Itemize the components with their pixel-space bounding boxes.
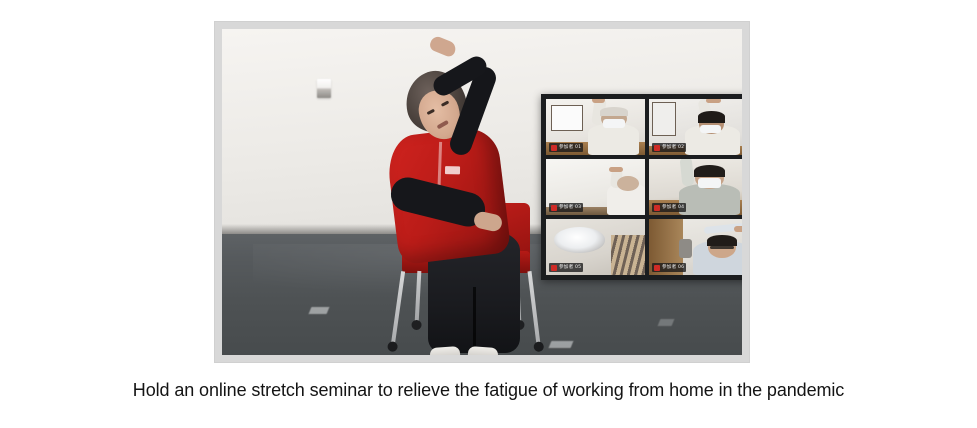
ceiling-light-icon (554, 227, 605, 253)
floor-marking (657, 319, 674, 326)
participant-tile[interactable]: 参加者 02 (649, 99, 742, 155)
chair-leg (528, 271, 541, 345)
participant-name-badge: 参加者 02 (652, 143, 686, 152)
seminar-photo: 参加者 01 (222, 29, 742, 355)
wall-picture (652, 102, 676, 135)
participant-glasses (710, 246, 734, 249)
participant-name-badge: 参加者 05 (549, 263, 583, 272)
wall-switch-icon (317, 79, 331, 98)
instructor-raised-arm (436, 39, 510, 149)
striped-curtain (611, 235, 645, 275)
participant-name: 参加者 01 (559, 143, 581, 152)
participant-name-badge: 参加者 04 (652, 203, 686, 212)
participant-body (588, 124, 639, 155)
chair-leg (415, 271, 422, 323)
participant-tile[interactable]: 参加者 01 (546, 99, 645, 155)
figure: 参加者 01 (214, 21, 750, 363)
mic-icon (654, 145, 660, 151)
instructor-shoe (430, 346, 461, 355)
instructor (382, 35, 562, 355)
participant-name: 参加者 06 (662, 263, 684, 272)
participant-hair (707, 235, 737, 246)
mic-icon (654, 205, 660, 211)
participant-mask (603, 119, 625, 127)
floor-marking (309, 307, 330, 314)
participant-mask (700, 125, 721, 133)
instructor-shoe (468, 346, 499, 355)
participant-hair (694, 165, 726, 177)
raised-hand (428, 35, 458, 59)
participant-mask (698, 178, 722, 188)
mic-icon (551, 145, 557, 151)
eye (427, 109, 435, 115)
mic-icon (551, 205, 557, 211)
wall-panel (679, 239, 692, 258)
participant-arm (679, 159, 694, 186)
participant-hair (600, 107, 628, 116)
participant-hair (698, 111, 726, 122)
participant-grid: 参加者 01 (546, 99, 742, 275)
leg-split (473, 287, 476, 353)
participant-name: 参加者 05 (559, 263, 581, 272)
wall-picture (551, 105, 583, 132)
participant-name: 参加者 02 (662, 143, 684, 152)
participant-name-badge: 参加者 03 (549, 203, 583, 212)
participant-name-badge: 参加者 01 (549, 143, 583, 152)
mic-icon (551, 265, 557, 271)
participant-name: 参加者 03 (559, 203, 581, 212)
mic-icon (654, 265, 660, 271)
jacket-logo (445, 166, 460, 174)
participant-tile[interactable]: 参加者 06 (649, 219, 742, 275)
participant-name-badge: 参加者 06 (652, 263, 686, 272)
participant-tile[interactable]: 参加者 04 (649, 159, 742, 215)
photo-frame: 参加者 01 (214, 21, 750, 363)
participant-tile[interactable]: 参加者 05 (546, 219, 645, 275)
video-call-grid[interactable]: 参加者 01 (541, 94, 742, 280)
participant-tile[interactable]: 参加者 03 (546, 159, 645, 215)
participant-hand (706, 99, 721, 103)
participant-name: 参加者 04 (662, 203, 684, 212)
participant-hand (734, 226, 742, 232)
figure-caption: Hold an online stretch seminar to reliev… (0, 380, 977, 401)
participant-hand (609, 167, 623, 172)
chair-leg (391, 271, 405, 345)
participant-hand (592, 99, 606, 103)
